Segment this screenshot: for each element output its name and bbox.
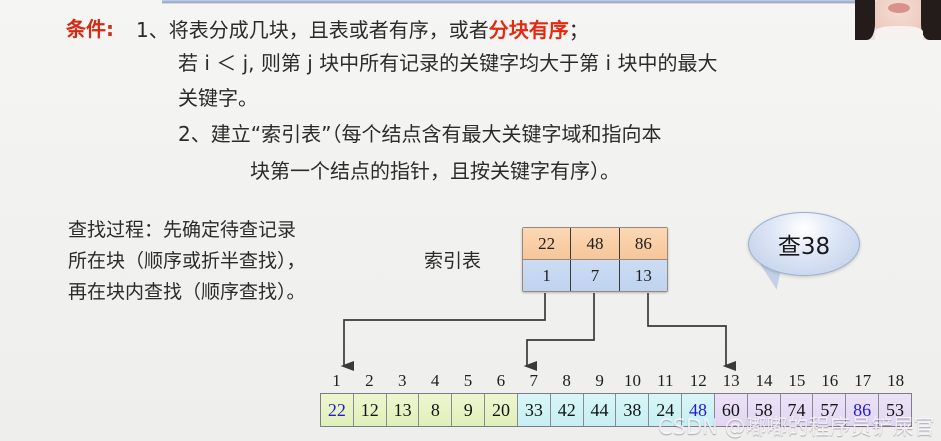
- array-cell: 9: [452, 394, 485, 426]
- search-process-line-1: 查找过程：先确定待查记录: [68, 215, 296, 242]
- array-index-label: 18: [879, 371, 912, 393]
- condition-line-1: 1、将表分成几块，且表或者有序，或者分块有序；: [136, 14, 589, 43]
- search-process-line-3: 再在块内查找（顺序查找）。: [68, 277, 306, 304]
- index-pointer-cell: 1: [523, 260, 571, 291]
- array-index-label: 4: [419, 371, 452, 393]
- search-process-line-2: 所在块（顺序或折半查找），: [68, 246, 306, 273]
- array-cell: 53: [879, 394, 911, 426]
- array-index-label: 7: [517, 371, 550, 393]
- array-cells-row: 2212138920334244382448605874578653: [320, 393, 912, 427]
- array-cell: 24: [649, 394, 682, 426]
- condition-line-1-pre: 1、将表分成几块，且表或者有序，或者: [136, 18, 489, 42]
- slide-canvas: 条件: 1、将表分成几块，且表或者有序，或者分块有序； 若 i ＜ j, 则第 …: [0, 0, 941, 441]
- array-index-label: 13: [715, 371, 748, 393]
- array-index-label: 17: [846, 371, 879, 393]
- index-key-cell: 86: [620, 228, 667, 259]
- index-key-cell: 22: [523, 228, 571, 259]
- condition-line-2b: 块第一个结点的指针，且按关键字有序）。: [250, 155, 620, 184]
- condition-line-1-highlight: 分块有序: [489, 18, 569, 42]
- array-index-label: 11: [649, 371, 682, 393]
- array-cell: 22: [321, 394, 354, 426]
- index-table-keys-row: 22 48 86: [523, 228, 667, 259]
- webcam-thumbnail[interactable]: [855, 0, 941, 40]
- array-index-label: 9: [583, 371, 616, 393]
- array-cell: 12: [354, 394, 387, 426]
- array-index-labels: 123456789101112131415161718: [320, 371, 912, 393]
- condition-line-1b: 若 i ＜ j, 则第 j 块中所有记录的关键字均大于第 i 块中的最大: [178, 47, 717, 76]
- array-index-label: 2: [353, 371, 386, 393]
- webcam-lips: [888, 3, 910, 13]
- condition-line-1c: 关键字。: [178, 82, 258, 111]
- array-cell: 58: [748, 394, 781, 426]
- array-index-label: 16: [813, 371, 846, 393]
- array-cell: 33: [518, 394, 551, 426]
- array-index-label: 14: [748, 371, 781, 393]
- condition-line-2: 2、建立“索引表”（每个结点含有最大关键字域和指向本: [178, 118, 661, 147]
- index-table-pointers-row: 1 7 13: [523, 259, 667, 291]
- webcam-collar: [875, 26, 923, 40]
- array-index-label: 15: [780, 371, 813, 393]
- array-cell: 60: [715, 394, 748, 426]
- connector-block-3: [648, 293, 726, 366]
- connector-block-1: [344, 293, 545, 366]
- array-cell: 86: [846, 394, 879, 426]
- array-cell: 74: [781, 394, 814, 426]
- array-cell: 48: [682, 394, 715, 426]
- array-index-label: 6: [484, 371, 517, 393]
- array-cell: 13: [387, 394, 420, 426]
- webcam-hair-left: [855, 0, 875, 40]
- search-key-callout: 查38: [748, 212, 860, 276]
- array-index-label: 8: [550, 371, 583, 393]
- array-cell: 8: [419, 394, 452, 426]
- array-index-label: 12: [682, 371, 715, 393]
- array-index-label: 1: [320, 371, 353, 393]
- array-index-label: 10: [616, 371, 649, 393]
- array-cell: 20: [485, 394, 518, 426]
- array-cell: 38: [616, 394, 649, 426]
- condition-line-1-post: ；: [569, 18, 589, 42]
- array-cell: 42: [551, 394, 584, 426]
- index-pointer-cell: 13: [620, 260, 667, 291]
- index-key-cell: 48: [571, 228, 619, 259]
- callout-label: 查38: [778, 227, 830, 261]
- index-table-label: 索引表: [424, 246, 481, 273]
- array-cell: 57: [813, 394, 846, 426]
- top-rail-decoration: [162, 0, 941, 4]
- array-index-label: 5: [452, 371, 485, 393]
- index-pointer-cell: 7: [571, 260, 619, 291]
- array-index-label: 3: [386, 371, 419, 393]
- condition-label: 条件:: [66, 13, 114, 42]
- connector-block-2: [527, 293, 594, 366]
- array-cell: 44: [584, 394, 617, 426]
- webcam-hair-right: [921, 0, 941, 40]
- index-table: 22 48 86 1 7 13: [522, 227, 668, 292]
